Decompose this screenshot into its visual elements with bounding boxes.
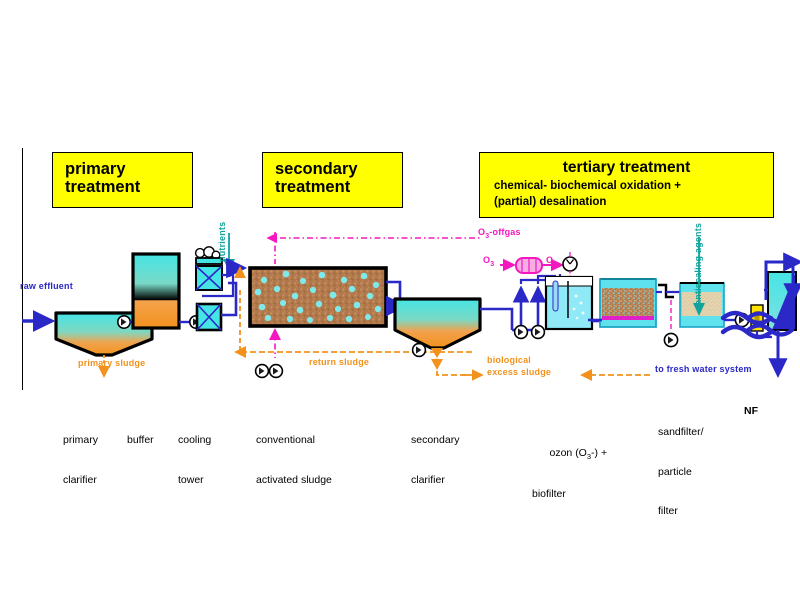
- secondary-sludge-arrow: [431, 359, 443, 370]
- stage-label-line3: filter: [658, 505, 704, 518]
- pump-icon-p4: [515, 326, 528, 339]
- label-biological-excess-sludge-line2: excess sludge: [487, 367, 551, 377]
- label-to-fresh-water-system: to fresh water system: [655, 364, 752, 374]
- label-o3-offgas: O3-offgas: [478, 227, 521, 240]
- gauge-icon: [563, 252, 577, 279]
- stage-label-nf: NF: [744, 405, 758, 418]
- stage-label-primary-clarifier: primary clarifier: [63, 408, 98, 513]
- clarifier-outlet-pipe: [480, 309, 512, 330]
- offgas-up-arrow: [269, 328, 281, 340]
- stage-label-line1: primary: [63, 434, 98, 447]
- stage-label-line1: cooling: [178, 434, 211, 447]
- stage-label-line2: biofilter: [532, 488, 607, 501]
- buffer-tank-vessel: [133, 254, 179, 328]
- pump-icon-blower-2: [270, 365, 283, 378]
- label-primary-sludge: primary sludge: [78, 358, 145, 368]
- stage-label-sandfilter: sandfilter/ particle filter: [658, 400, 704, 544]
- label-antiscaling-agents: antiscaling agents: [693, 223, 703, 305]
- pump-icon-blower-1: [256, 365, 269, 378]
- label-o3-inlet: O3: [483, 255, 494, 268]
- stage-label-line2: clarifier: [411, 474, 459, 487]
- fresh-water-waves: [715, 300, 800, 360]
- activated-sludge-basin: [250, 268, 386, 326]
- stage-label-line2: tower: [178, 474, 211, 487]
- ozone-generator-icon: [516, 258, 542, 273]
- label-raw-effluent: raw effluent: [20, 281, 73, 291]
- pump-icon-p5: [532, 326, 545, 339]
- pump-icon-p1: [118, 316, 130, 328]
- stage-label-line1: ozon (O3-) +: [532, 434, 607, 462]
- stage-label-cooling-tower: cooling tower: [178, 408, 211, 513]
- backwash-sludge-arrow: [580, 369, 592, 381]
- stage-label-activated-sludge: conventional activated sludge: [256, 408, 332, 513]
- pump-icon-p6: [664, 333, 677, 346]
- stage-label-line1: sandfilter/: [658, 426, 704, 439]
- label-return-sludge: return sludge: [309, 357, 369, 367]
- stage-label-line1: buffer: [127, 434, 154, 447]
- stage-label-line2: clarifier: [63, 474, 98, 487]
- stage-label-line1: secondary: [411, 434, 459, 447]
- biofilter-vessel: [600, 279, 656, 327]
- stage-label-buffer: buffer: [127, 408, 154, 474]
- label-biological-excess-sludge-line1: biological: [487, 355, 531, 365]
- label-nutrients: nutrients: [217, 222, 227, 262]
- stage-label-secondary-clarifier: secondary clarifier: [411, 408, 459, 513]
- pump-icon-p3: [413, 344, 426, 357]
- stage-label-line1: conventional: [256, 434, 332, 447]
- o3-offgas-text: O3-offgas: [478, 227, 521, 237]
- label-o3-outlet: O3: [546, 255, 557, 268]
- stage-label-ozone-biofilter: ozon (O3-) + biofilter: [532, 408, 607, 527]
- stage-label-line2: particle: [658, 466, 704, 479]
- ozone-contact-tank: [546, 277, 592, 329]
- diagram-canvas: primary treatment secondary treatment te…: [0, 0, 800, 600]
- stage-label-line2: activated sludge: [256, 474, 332, 487]
- secondary-clarifier-vessel: [395, 299, 480, 348]
